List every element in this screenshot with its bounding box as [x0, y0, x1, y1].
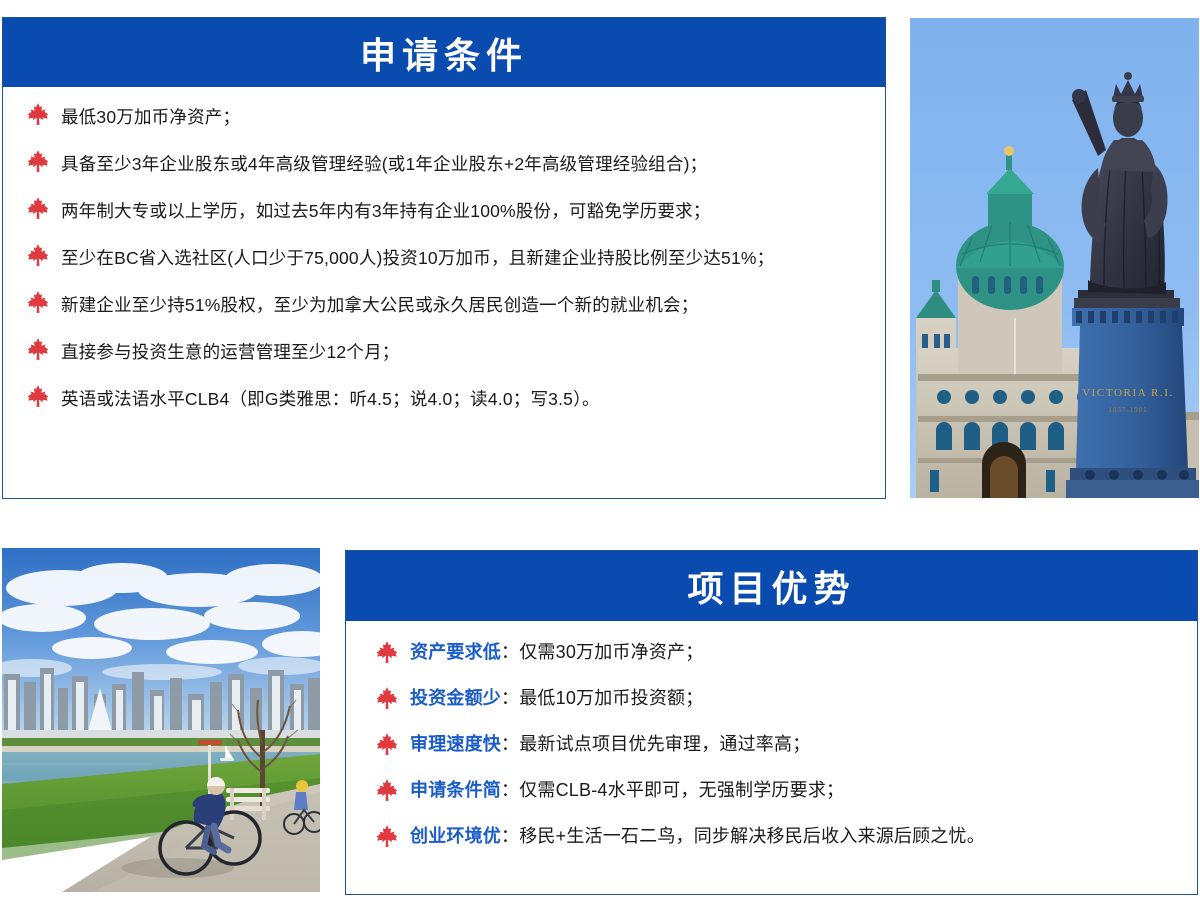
bottom-section: 项目优势 资产要求低：仅需30万加币净资产；: [0, 510, 1200, 909]
list-item: 申请条件简：仅需CLB-4水平即可，无强制学历要求；: [376, 777, 1177, 803]
list-item-text: 资产要求低：仅需30万加币净资产；: [410, 639, 703, 665]
list-item-text: 新建企业至少持51%股权，至少为加拿大公民或永久居民创造一个新的就业机会；: [61, 289, 698, 321]
victoria-statue-photo: VICTORIA R.I. 1837-1901: [910, 18, 1199, 498]
maple-leaf-icon: [376, 686, 398, 710]
advantage-colon: ：: [501, 688, 519, 708]
list-item: 创业环境优：移民+生活一石二鸟，同步解决移民后收入来源后顾之忧。: [376, 823, 1177, 849]
project-advantages-panel: 项目优势 资产要求低：仅需30万加币净资产；: [345, 550, 1198, 895]
list-item-text: 申请条件简：仅需CLB-4水平即可，无强制学历要求；: [410, 777, 844, 803]
maple-leaf-icon: [27, 149, 49, 173]
maple-leaf-icon: [376, 778, 398, 802]
advantage-label: 申请条件简: [410, 780, 501, 800]
advantage-colon: ：: [501, 642, 519, 662]
maple-leaf-icon: [376, 640, 398, 664]
advantage-description: 最新试点项目优先审理，通过率高；: [519, 734, 810, 754]
maple-leaf-icon: [27, 290, 49, 314]
maple-leaf-icon: [376, 824, 398, 848]
advantages-panel-title: 项目优势: [346, 551, 1197, 621]
list-item: 最低30万加币净资产；: [27, 101, 865, 133]
maple-leaf-icon: [376, 732, 398, 756]
list-item: 两年制大专或以上学历，如过去5年内有3年持有企业100%股份，可豁免学历要求；: [27, 195, 865, 227]
maple-leaf-icon: [27, 337, 49, 361]
list-item-text: 创业环境优：移民+生活一石二鸟，同步解决移民后收入来源后顾之忧。: [410, 823, 985, 849]
advantage-label: 审理速度快: [410, 734, 501, 754]
advantage-label: 创业环境优: [410, 826, 501, 846]
svg-text:1837-1901: 1837-1901: [1108, 406, 1147, 414]
list-item: 审理速度快：最新试点项目优先审理，通过率高；: [376, 731, 1177, 757]
list-item-text: 直接参与投资生意的运营管理至少12个月；: [61, 336, 399, 368]
advantage-description: 最低10万加币投资额；: [519, 688, 703, 708]
application-conditions-panel: 申请条件 最低30万加币净资产； 具备至少3年企业股东或4年高级管理经验(或1年…: [2, 17, 886, 499]
conditions-panel-title: 申请条件: [3, 18, 885, 87]
maple-leaf-icon: [27, 243, 49, 267]
advantage-description: 移民+生活一石二鸟，同步解决移民后收入来源后顾之忧。: [519, 826, 985, 846]
list-item-text: 至少在BC省入选社区(人口少于75,000人)投资10万加币，且新建企业持股比例…: [61, 242, 774, 274]
advantage-colon: ：: [501, 826, 519, 846]
list-item: 投资金额少：最低10万加币投资额；: [376, 685, 1177, 711]
svg-text:VICTORIA R.I.: VICTORIA R.I.: [1082, 387, 1174, 399]
advantage-label: 资产要求低: [410, 642, 501, 662]
list-item-text: 最低30万加币净资产；: [61, 101, 240, 133]
advantages-list: 资产要求低：仅需30万加币净资产； 投资金额少：最低10万加币投资额；: [346, 621, 1197, 859]
list-item: 直接参与投资生意的运营管理至少12个月；: [27, 336, 865, 368]
list-item-text: 两年制大专或以上学历，如过去5年内有3年持有企业100%股份，可豁免学历要求；: [61, 195, 711, 227]
maple-leaf-icon: [27, 384, 49, 408]
maple-leaf-icon: [27, 196, 49, 220]
conditions-list: 最低30万加币净资产； 具备至少3年企业股东或4年高级管理经验(或1年企业股东+…: [3, 87, 885, 425]
advantage-label: 投资金额少: [410, 688, 501, 708]
list-item-text: 英语或法语水平CLB4（即G类雅思：听4.5；说4.0；读4.0；写3.5）。: [61, 383, 600, 415]
advantage-description: 仅需30万加币净资产；: [519, 642, 703, 662]
list-item-text: 审理速度快：最新试点项目优先审理，通过率高；: [410, 731, 810, 757]
list-item-text: 投资金额少：最低10万加币投资额；: [410, 685, 703, 711]
maple-leaf-icon: [27, 102, 49, 126]
top-section: 申请条件 最低30万加币净资产； 具备至少3年企业股东或4年高级管理经验(或1年…: [0, 0, 1200, 510]
advantage-colon: ：: [501, 734, 519, 754]
list-item: 具备至少3年企业股东或4年高级管理经验(或1年企业股东+2年高级管理经验组合)；: [27, 148, 865, 180]
vancouver-seawall-photo: [2, 548, 320, 892]
list-item: 英语或法语水平CLB4（即G类雅思：听4.5；说4.0；读4.0；写3.5）。: [27, 383, 865, 415]
list-item-text: 具备至少3年企业股东或4年高级管理经验(或1年企业股东+2年高级管理经验组合)；: [61, 148, 707, 180]
advantage-description: 仅需CLB-4水平即可，无强制学历要求；: [519, 780, 844, 800]
advantage-colon: ：: [501, 780, 519, 800]
list-item: 至少在BC省入选社区(人口少于75,000人)投资10万加币，且新建企业持股比例…: [27, 242, 865, 274]
list-item: 新建企业至少持51%股权，至少为加拿大公民或永久居民创造一个新的就业机会；: [27, 289, 865, 321]
list-item: 资产要求低：仅需30万加币净资产；: [376, 639, 1177, 665]
